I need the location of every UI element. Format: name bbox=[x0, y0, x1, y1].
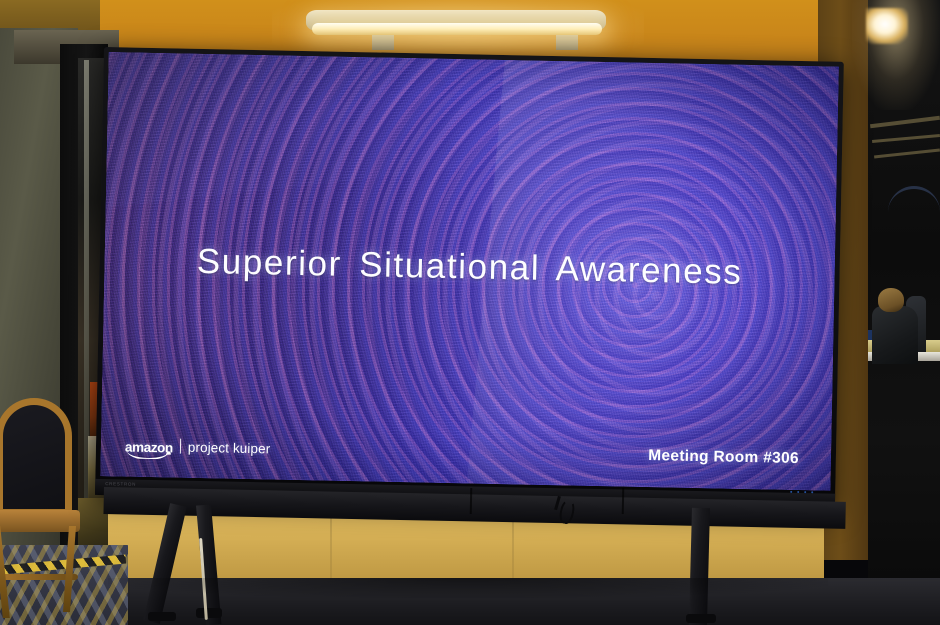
chair-leg bbox=[63, 526, 76, 612]
amazon-smile-arrow-icon bbox=[127, 451, 171, 460]
stand-foot bbox=[196, 608, 222, 618]
status-led-icon bbox=[790, 491, 792, 493]
display-screen[interactable]: Superior Situational Awareness amazon pr… bbox=[100, 52, 838, 491]
chair-backrest bbox=[0, 398, 72, 516]
product-wordmark: project kuiper bbox=[188, 440, 271, 455]
person-body bbox=[872, 306, 918, 364]
fluorescent-tube-icon bbox=[312, 23, 602, 35]
brand-lockup: amazon project kuiper bbox=[125, 438, 271, 457]
status-led-icon bbox=[804, 491, 806, 493]
person-head bbox=[878, 288, 904, 312]
status-led-icon bbox=[811, 491, 813, 493]
photo-scene: Superior Situational Awareness amazon pr… bbox=[0, 0, 940, 625]
banquet-chair bbox=[0, 398, 88, 618]
venue-light-fixture bbox=[866, 8, 908, 44]
floor-shadow bbox=[108, 578, 828, 598]
brand-divider bbox=[180, 439, 181, 454]
amazon-wordmark: amazon bbox=[125, 440, 173, 454]
status-led-icon bbox=[797, 491, 799, 493]
chair-leg bbox=[0, 526, 10, 618]
presentation-display[interactable]: Superior Situational Awareness amazon pr… bbox=[95, 47, 844, 510]
stand-leg-right bbox=[689, 508, 710, 625]
stand-foot bbox=[686, 614, 716, 623]
meeting-room-label: Meeting Room #306 bbox=[648, 447, 799, 468]
display-brand-plate: CRESTRON bbox=[105, 481, 136, 487]
stand-foot bbox=[148, 612, 176, 621]
